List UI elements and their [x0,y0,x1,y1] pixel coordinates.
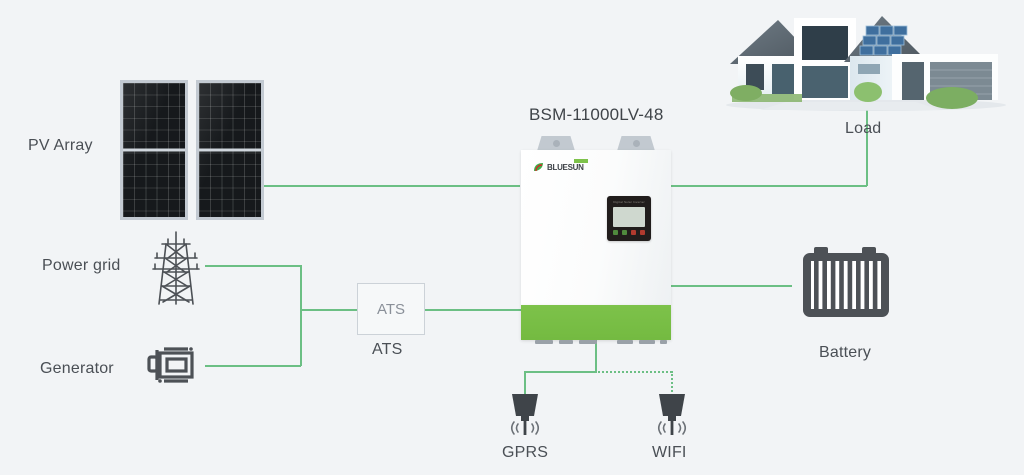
inverter-base-green [521,305,671,340]
wire-inverter-to-load [670,185,867,187]
house-load-graphic [716,6,1006,112]
wifi-label: WIFI [652,444,687,462]
wire-bus-to-ats [300,309,358,311]
wifi-dongle-icon [651,392,693,440]
battery-icon [800,245,892,321]
lcd-button-row[interactable] [613,230,645,236]
inverter-port-4 [617,340,633,344]
inverter-body: BLUESUN Digital Solar Inverter [521,150,671,305]
wire-inverter-to-battery [670,285,792,287]
pv-array-graphic [120,80,270,225]
inverter-graphic[interactable]: BLUESUN Digital Solar Inverter [521,136,671,348]
inverter-port-6 [660,340,667,344]
mounting-tab-left [537,136,575,151]
ats-box[interactable]: ATS [357,283,425,335]
power-grid-tower-icon [146,228,206,308]
inverter-lcd-panel[interactable]: Digital Solar Inverter [607,196,651,241]
gprs-dongle-icon [504,392,546,440]
pv-array-label: PV Array [28,137,93,155]
ats-caption-label: ATS [372,341,403,359]
wire-generator-to-bus [205,365,301,367]
inverter-port-3 [579,340,597,344]
inverter-model-label: BSM-11000LV-48 [529,105,663,125]
inverter-port-2 [559,340,573,344]
gprs-label: GPRS [502,444,548,462]
panel-glare [199,83,261,217]
wire-grid-to-bus [205,265,301,267]
mounting-tab-right [617,136,655,151]
wire-to-gprs-horizontal [524,371,596,373]
wire-ats-to-inverter [424,309,523,311]
wire-to-wifi-horizontal [595,371,672,373]
wire-pv-to-inverter [248,185,520,187]
lcd-screen [613,207,645,227]
battery-label: Battery [819,344,871,362]
bluesun-wordmark: BLUESUN [547,163,584,172]
diagram-canvas: PV Array [0,0,1024,475]
bluesun-logo: BLUESUN [533,162,584,173]
lcd-caption: Digital Solar Inverter [612,200,646,205]
lcd-button-2[interactable] [622,230,627,235]
ats-inner-label: ATS [377,301,405,318]
leaf-icon [533,162,544,173]
inverter-port-1 [535,340,553,344]
solar-panel-2 [196,80,264,220]
power-grid-label: Power grid [42,257,120,275]
lcd-button-4[interactable] [640,230,645,235]
panel-glare [123,83,185,217]
lcd-button-1[interactable] [613,230,618,235]
generator-icon [146,340,204,390]
generator-label: Generator [40,360,114,378]
lcd-button-3[interactable] [631,230,636,235]
wire-ac-bus [300,265,302,366]
solar-panel-1 [120,80,188,220]
inverter-port-5 [639,340,655,344]
load-label: Load [845,120,881,138]
